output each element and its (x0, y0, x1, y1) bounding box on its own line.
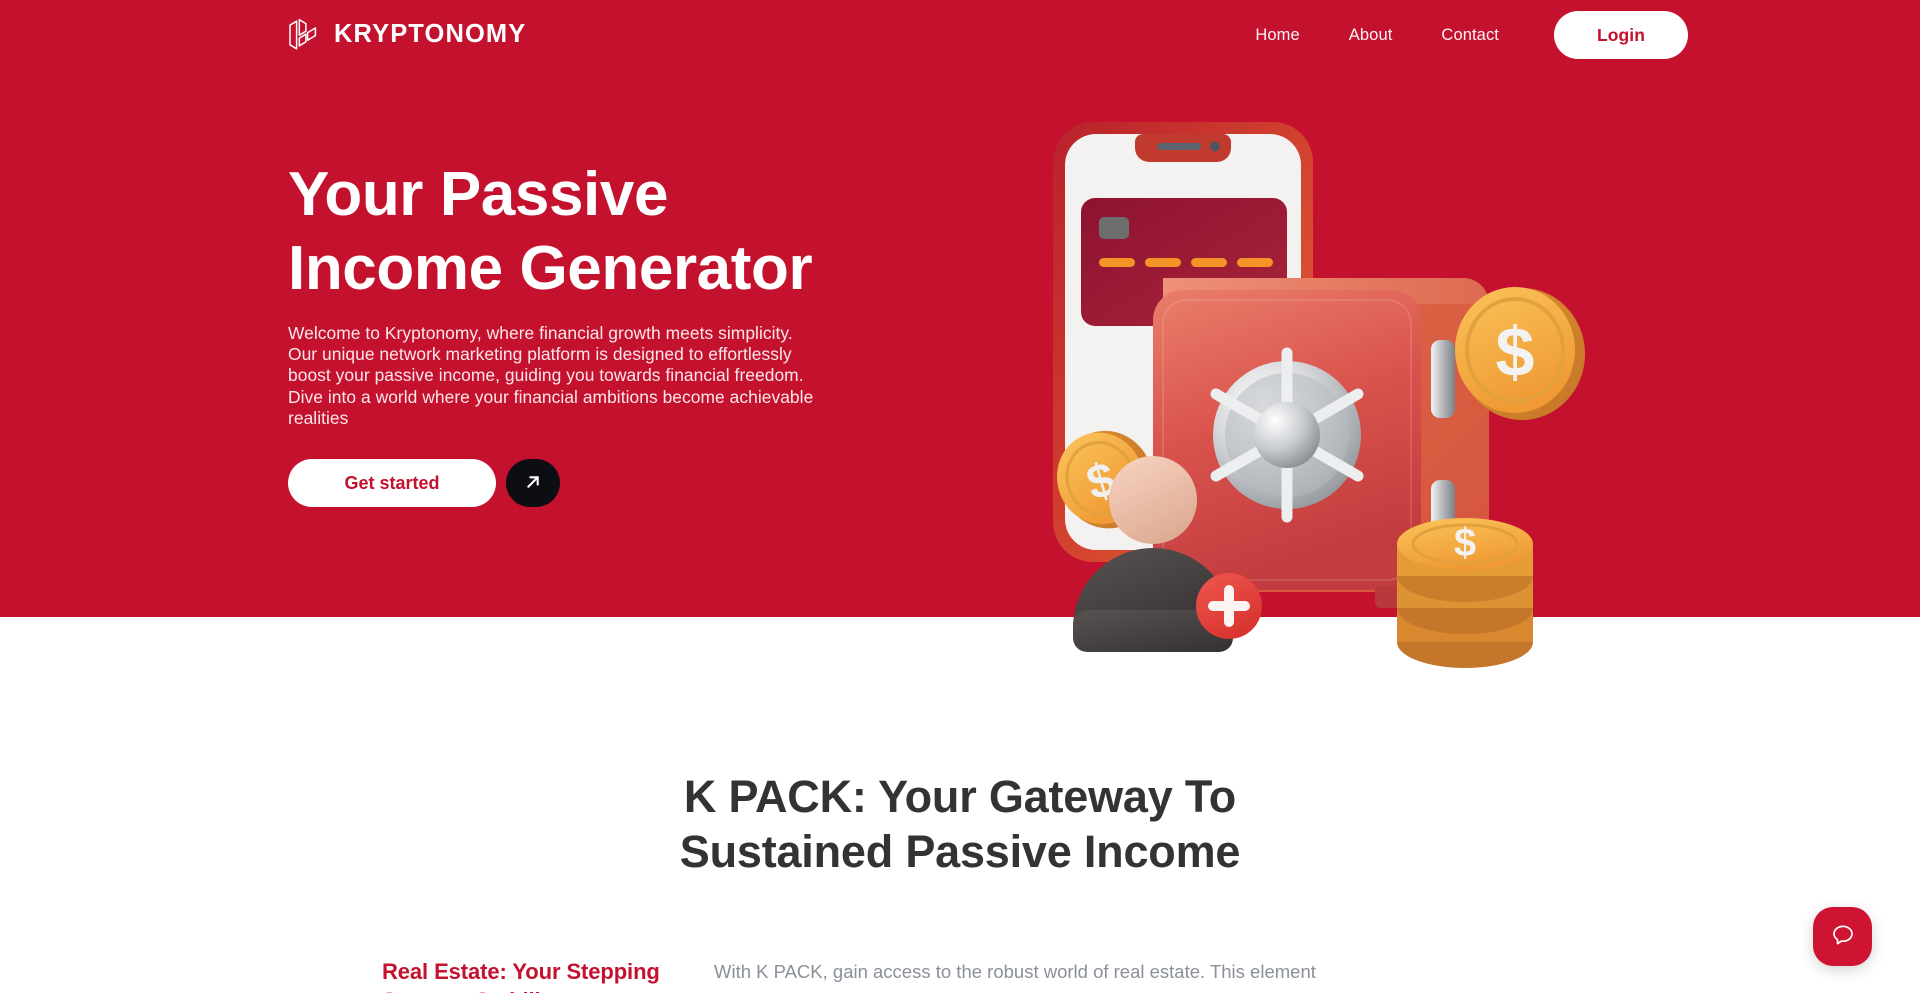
section-title-line-1: K PACK: Your Gateway To (684, 771, 1236, 822)
landing-page: KRYPTONOMY Home About Contact Login Your… (0, 0, 1920, 993)
hero-cta-group: Get started (288, 459, 948, 507)
secure-savings-3d-illustration: $ $ $ (1045, 110, 1605, 700)
section-right-column: With K PACK, gain access to the robust w… (694, 957, 1620, 993)
real-estate-heading-line-1: Real Estate: Your Stepping (382, 959, 660, 984)
chat-support-button[interactable] (1813, 907, 1872, 966)
nav-link-contact[interactable]: Contact (1441, 27, 1499, 44)
section-columns: Real Estate: Your Stepping Stone to Stab… (0, 957, 1920, 993)
kryptonomy-k-monogram-icon (288, 16, 319, 54)
real-estate-paragraph: With K PACK, gain access to the robust w… (714, 957, 1620, 986)
nav-link-home[interactable]: Home (1255, 27, 1299, 44)
hero-content: Your Passive Income Generator Welcome to… (288, 158, 948, 507)
section-title-line-2: Sustained Passive Income (680, 826, 1240, 877)
hero-title-line-1: Your Passive (288, 160, 668, 229)
nav-links: Home About Contact (1255, 27, 1499, 44)
kpack-section: K PACK: Your Gateway To Sustained Passiv… (0, 617, 1920, 993)
brand-logo[interactable]: KRYPTONOMY (288, 16, 526, 54)
get-started-button[interactable]: Get started (288, 459, 496, 507)
svg-text:$: $ (1454, 521, 1476, 565)
hero-title-line-2: Income Generator (288, 234, 812, 303)
real-estate-heading-line-2: Stone to Stability (382, 988, 560, 993)
arrow-up-right-icon (522, 471, 544, 496)
nav-link-about[interactable]: About (1349, 27, 1393, 44)
brand-name: KRYPTONOMY (334, 22, 526, 48)
hero-paragraph: Welcome to Kryptonomy, where financial g… (288, 323, 818, 429)
stacked-gold-coins: $ (1397, 518, 1533, 668)
svg-text:$: $ (1496, 313, 1535, 391)
real-estate-heading: Real Estate: Your Stepping Stone to Stab… (382, 957, 694, 993)
main-navigation: KRYPTONOMY Home About Contact Login (0, 0, 1920, 70)
hero-arrow-button[interactable] (506, 459, 560, 507)
section-title: K PACK: Your Gateway To Sustained Passiv… (0, 769, 1920, 879)
chat-bubble-icon (1829, 921, 1857, 952)
section-left-column: Real Estate: Your Stepping Stone to Stab… (382, 957, 694, 993)
hero-title: Your Passive Income Generator (288, 158, 948, 306)
login-button[interactable]: Login (1554, 11, 1688, 59)
